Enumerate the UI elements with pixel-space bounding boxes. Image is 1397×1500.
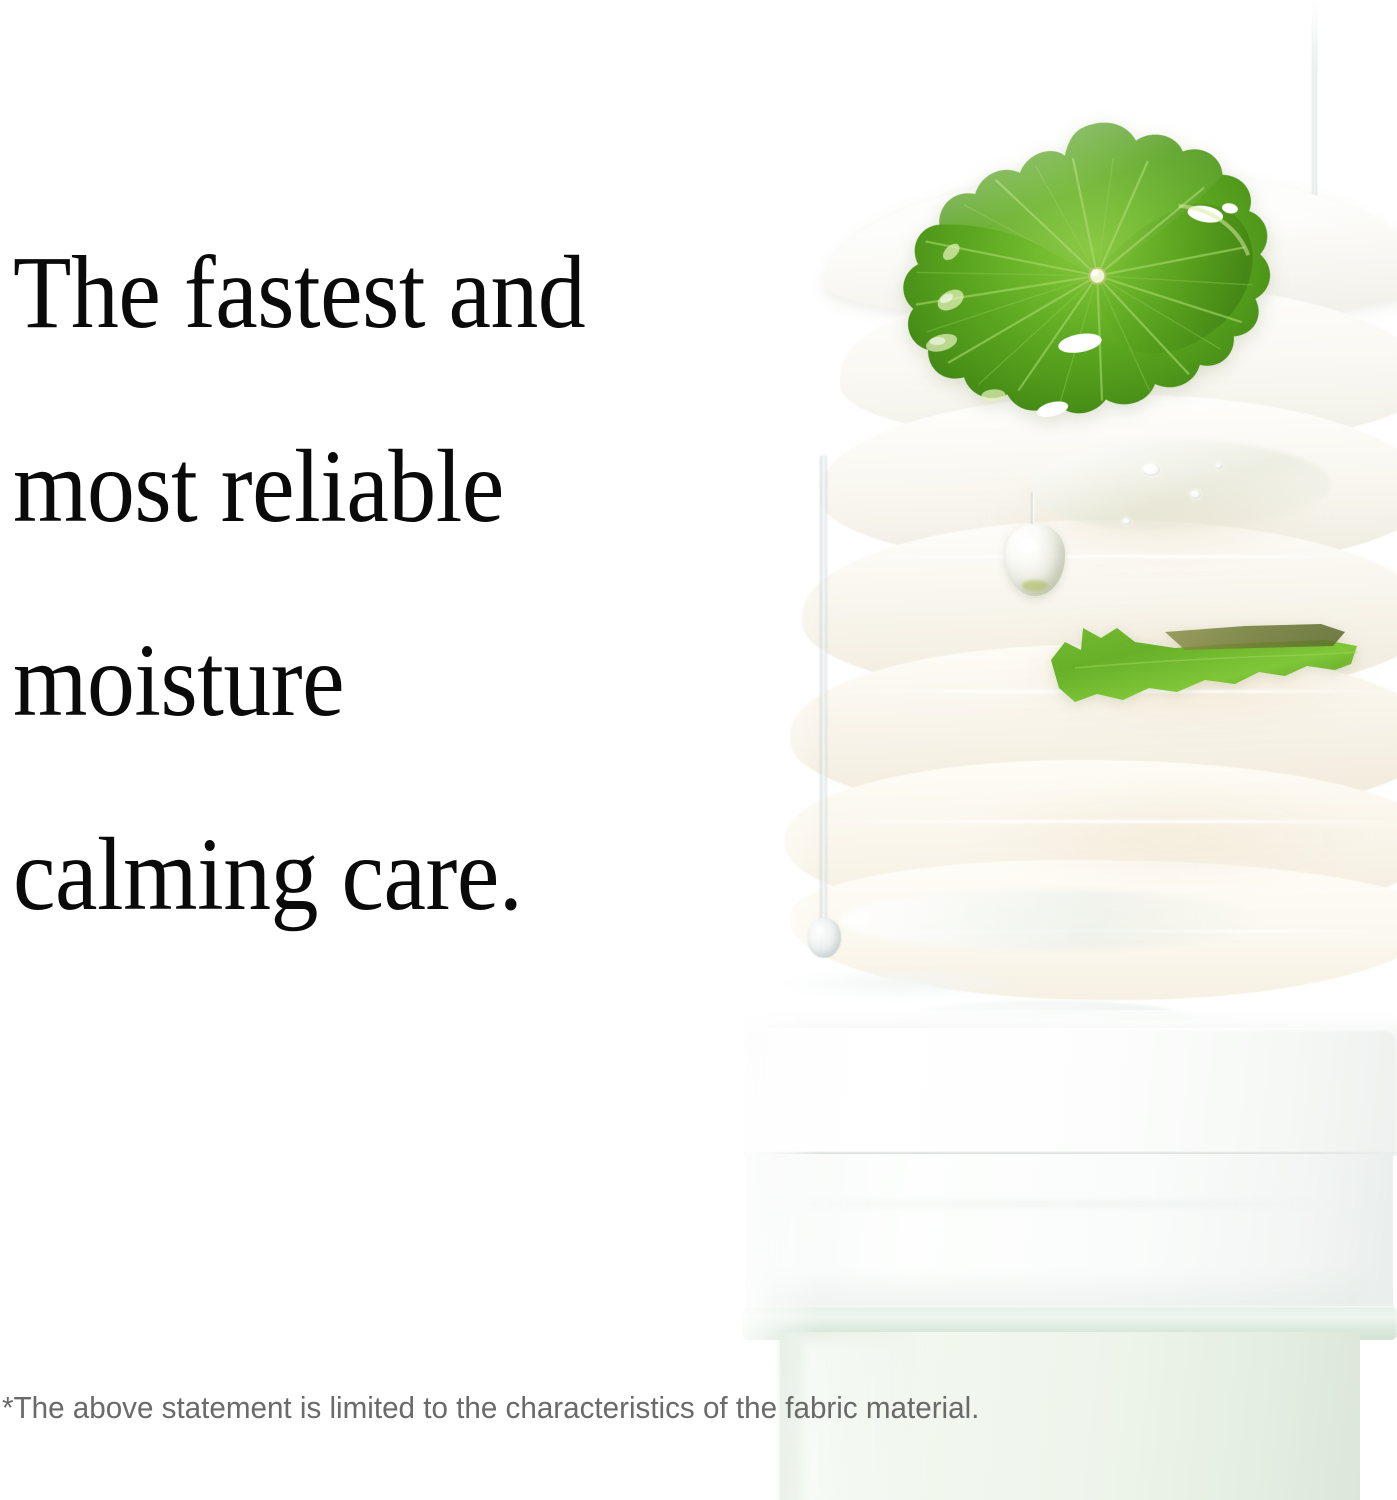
jar-lid-reflection — [772, 1200, 1332, 1208]
essence-pool — [780, 970, 1020, 1000]
centella-leaf-icon — [882, 87, 1309, 514]
photo-top-fade — [690, 0, 1397, 70]
water-droplet-icon — [1000, 492, 1070, 602]
pad-fold-edge — [820, 930, 1397, 933]
headline-line-3: moisture — [13, 584, 777, 778]
water-bubble — [1122, 518, 1131, 525]
pad-fold-edge — [840, 555, 1397, 558]
pad-fold-edge — [810, 820, 1397, 823]
jar-lid-shadow — [762, 1270, 1362, 1310]
product-marketing-banner: The fastest and most reliable moisture c… — [0, 0, 1397, 1500]
headline-line-2: most reliable — [13, 390, 777, 584]
centella-leaf-small-icon — [1045, 598, 1365, 733]
droplet-highlight — [1018, 538, 1038, 553]
headline-line-4: calming care. — [13, 778, 777, 972]
page-title: The fastest and most reliable moisture c… — [13, 196, 843, 972]
jar-lid-upper — [742, 1028, 1397, 1156]
disclaimer-footnote: *The above statement is limited to the c… — [2, 1388, 979, 1428]
headline-line-1: The fastest and — [13, 196, 777, 390]
droplet-green-tint — [1022, 580, 1048, 591]
